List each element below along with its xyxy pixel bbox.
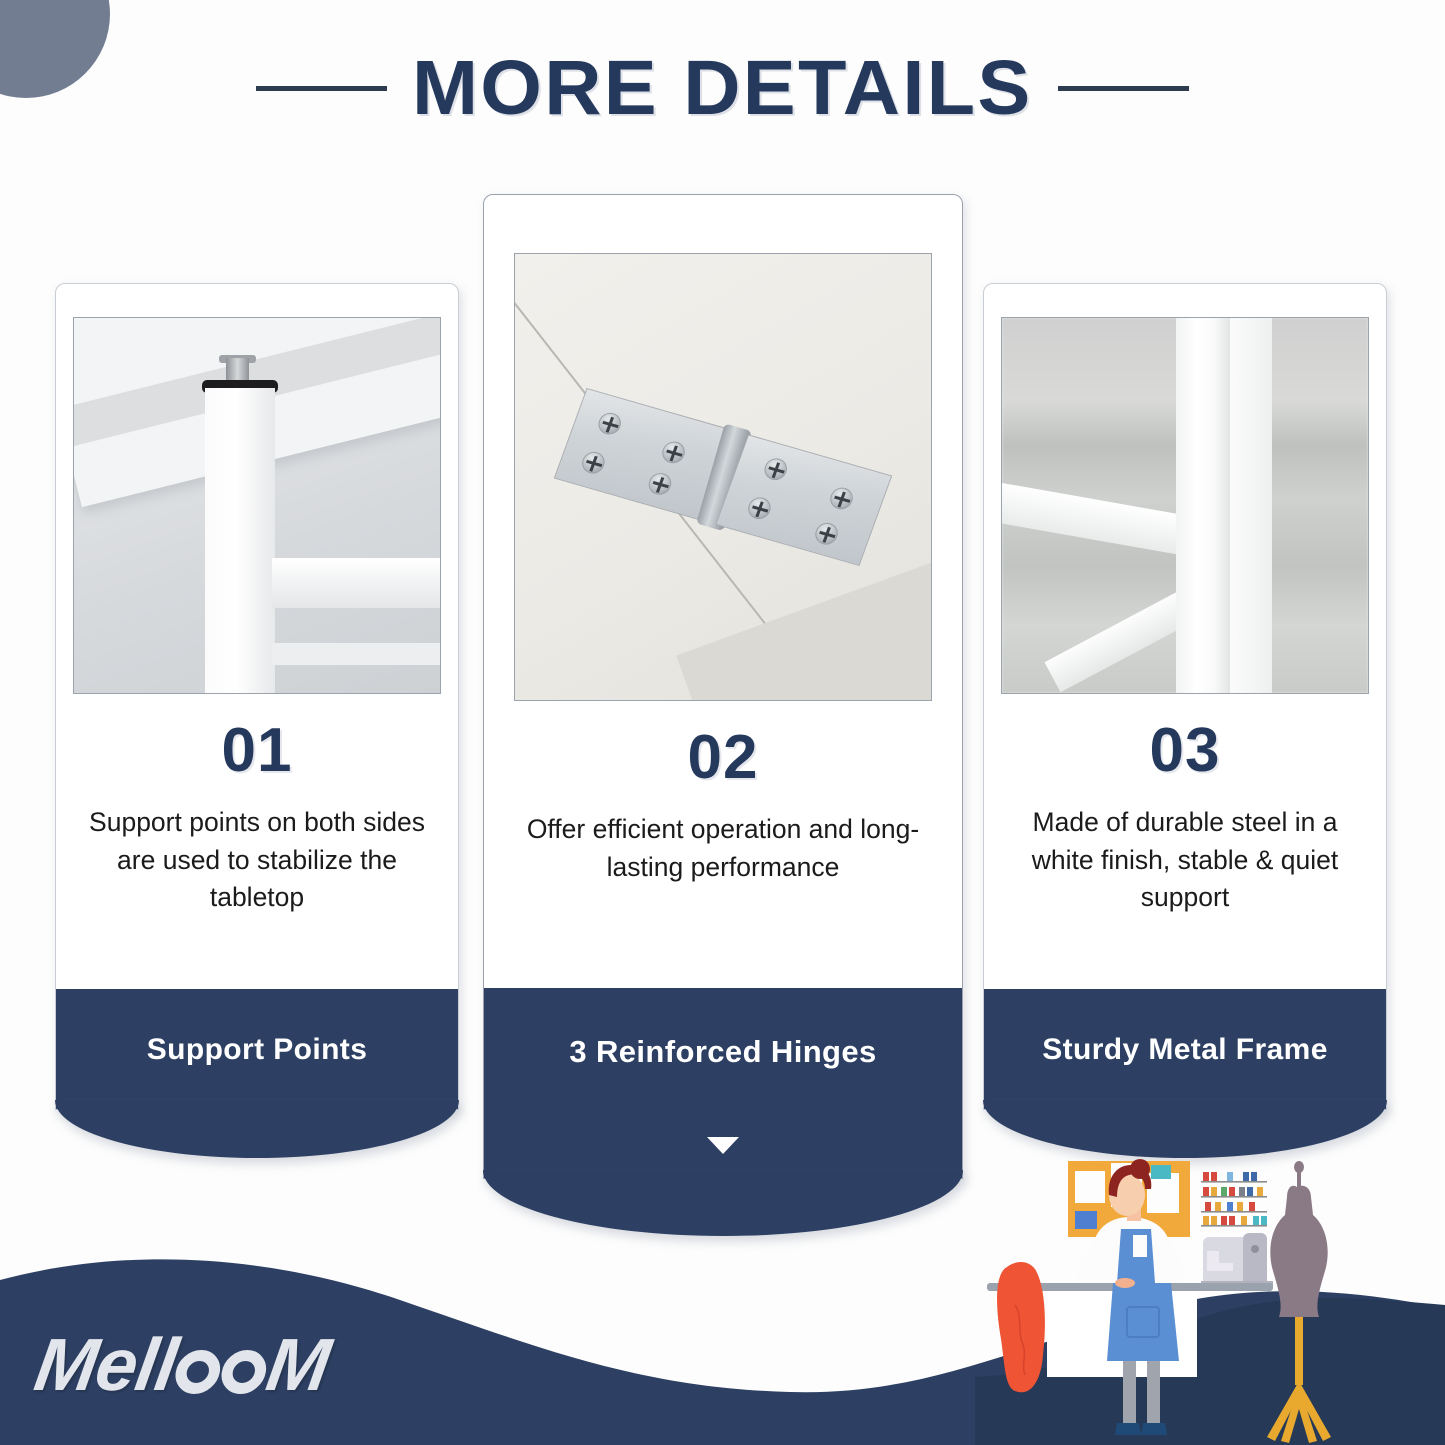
card-03-body: 03 Made of durable steel in a white fini… (984, 694, 1386, 989)
mannequin-knob (1294, 1161, 1304, 1173)
shoe-left (1115, 1423, 1141, 1435)
spool-row-3 (1205, 1202, 1255, 1211)
card-01-footer-label: Support Points (147, 1033, 368, 1067)
card-01-footer[interactable]: Support Points (56, 989, 458, 1109)
card-02-description: Offer efficient operation and long-lasti… (502, 811, 944, 886)
card-03-description: Made of durable steel in a white finish,… (1002, 804, 1368, 917)
logo-text-right: M (261, 1322, 335, 1407)
thread-spool-shelves (1201, 1172, 1267, 1227)
card-03-photo (1001, 317, 1369, 694)
card-02-footer-label: 3 Reinforced Hinges (569, 1034, 876, 1070)
card-02-photo (514, 253, 932, 701)
card-02-number: 02 (502, 727, 944, 789)
card-01-number: 01 (74, 720, 440, 782)
frame-post-highlight (1230, 318, 1272, 694)
spool-row-4 (1203, 1216, 1267, 1225)
table-leg (205, 388, 275, 694)
detail-card-02[interactable]: 02 Offer efficient operation and long-la… (483, 194, 963, 1179)
card-03-number: 03 (1002, 720, 1368, 782)
card-02-footer-curve (483, 1170, 963, 1236)
seamstress-workshop-illustration (975, 1155, 1445, 1445)
screw-icon (646, 471, 675, 498)
frame-vertical-post (1176, 318, 1230, 694)
logo-ring-icon (218, 1350, 269, 1394)
detail-card-01[interactable]: 01 Support points on both sides are used… (55, 283, 459, 1110)
right-divider-dash (1058, 86, 1189, 91)
leg-right (1147, 1351, 1160, 1423)
screw-icon (579, 449, 608, 476)
card-03-footer[interactable]: Sturdy Metal Frame (984, 989, 1386, 1109)
card-02-footer[interactable]: 3 Reinforced Hinges (484, 988, 962, 1178)
card-03-footer-curve (983, 1100, 1387, 1158)
support-pin (226, 358, 249, 382)
chevron-down-icon[interactable] (707, 1137, 739, 1154)
screw-icon (761, 456, 790, 483)
shoe-right (1141, 1423, 1167, 1435)
logo-text-left: Mell (29, 1322, 182, 1407)
spool-row-1 (1203, 1172, 1257, 1181)
apron-skirt (1107, 1283, 1179, 1361)
cross-rail (272, 558, 441, 608)
spool-row-2 (1203, 1187, 1263, 1196)
hair-bun (1130, 1159, 1150, 1179)
floor-band (975, 1298, 1445, 1445)
leg-left (1123, 1351, 1136, 1423)
left-divider-dash (256, 86, 387, 91)
red-fabric (997, 1262, 1045, 1392)
card-01-body: 01 Support points on both sides are used… (56, 694, 458, 989)
card-01-footer-curve (55, 1100, 459, 1158)
mannequin-stand-pole (1295, 1317, 1303, 1385)
lower-rail (272, 643, 441, 665)
card-01-description: Support points on both sides are used to… (74, 804, 440, 917)
sewing-machine (1201, 1233, 1273, 1288)
infographic-page: MORE DETAILS 01 Support points on both s… (0, 0, 1445, 1445)
screw-icon (745, 495, 774, 522)
screw-icon (659, 439, 688, 466)
brand-logo: Mell M (29, 1322, 335, 1407)
screw-icon (827, 485, 856, 512)
screw-icon (595, 410, 624, 437)
card-02-body: 02 Offer efficient operation and long-la… (484, 701, 962, 988)
card-01-photo (73, 317, 441, 694)
page-header: MORE DETAILS (0, 34, 1445, 142)
card-03-footer-label: Sturdy Metal Frame (1042, 1033, 1328, 1067)
detail-card-03[interactable]: 03 Made of durable steel in a white fini… (983, 283, 1387, 1110)
shirt-collar-gap (1133, 1235, 1147, 1257)
page-title: MORE DETAILS (412, 44, 1033, 133)
screw-icon (812, 520, 841, 547)
hand-left (1115, 1278, 1135, 1288)
logo-ring-icon (172, 1350, 223, 1394)
